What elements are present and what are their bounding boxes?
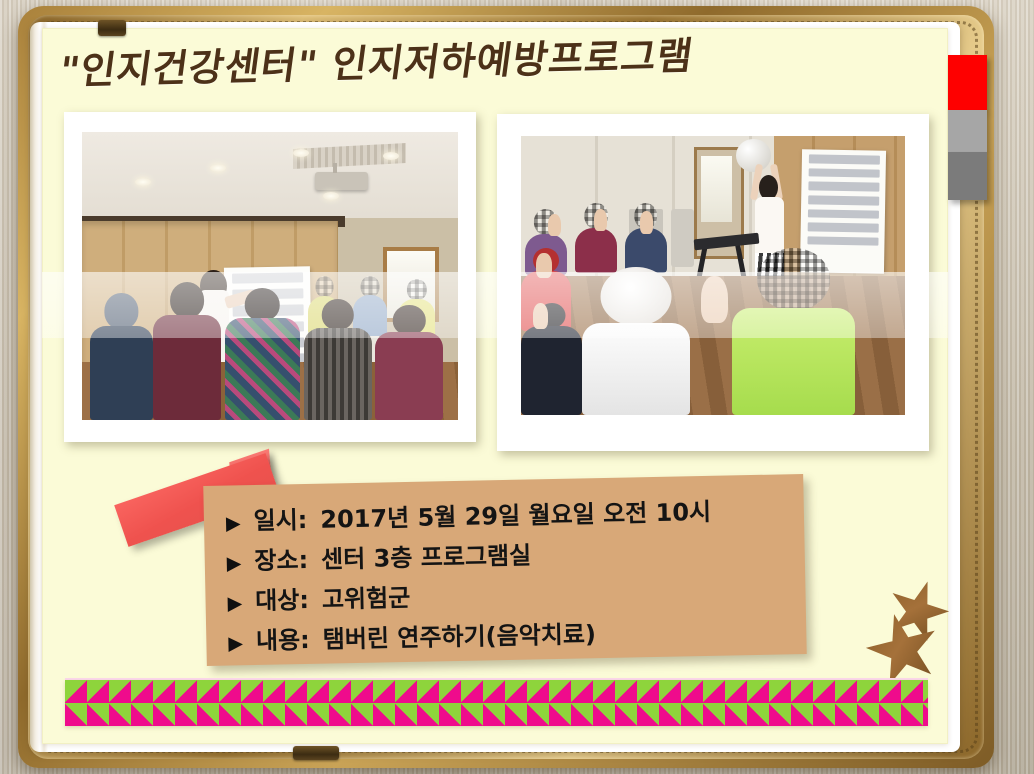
info-value-content: 탬버린 연주하기(음악치료) [323, 622, 597, 651]
info-line-datetime: ▶ 일시: 2017년 5월 29일 월요일 오전 10시 [226, 498, 804, 534]
info-value-datetime: 2017년 5월 29일 월요일 오전 10시 [320, 500, 711, 532]
info-line-content: ▶ 내용: 탬버린 연주하기(음악치료) [228, 618, 806, 654]
bullet-icon: ▶ [227, 554, 242, 573]
info-line-target: ▶ 대상: 고위험군 [227, 578, 805, 614]
side-tab-light-gray[interactable] [948, 110, 987, 152]
info-label-content: 내용: [256, 628, 310, 653]
info-box: ▶ 일시: 2017년 5월 29일 월요일 오전 10시 ▶ 장소: 센터 3… [203, 474, 806, 666]
notebook-clasp-top [98, 20, 126, 36]
side-tab-dark-gray[interactable] [948, 152, 987, 200]
info-value-target: 고위험군 [322, 586, 411, 612]
notebook-clasp-bottom [293, 746, 339, 760]
side-tab-red[interactable] [948, 55, 987, 111]
photo-card-2[interactable] [497, 114, 929, 451]
photo-1-image [82, 132, 458, 420]
bullet-icon: ▶ [228, 634, 243, 653]
info-label-target: 대상: [255, 588, 309, 613]
info-label-location: 장소: [254, 548, 308, 573]
photo-2-image [521, 136, 905, 415]
slide-canvas: "인지건강센터" 인지저하예방프로그램 [0, 0, 1034, 774]
bullet-icon: ▶ [226, 514, 241, 533]
info-label-datetime: 일시: [253, 508, 307, 533]
info-line-location: ▶ 장소: 센터 3층 프로그램실 [227, 538, 805, 574]
info-value-location: 센터 3층 프로그램실 [321, 543, 532, 571]
bullet-icon: ▶ [227, 594, 242, 613]
photo-card-1[interactable] [64, 112, 476, 442]
triangle-border-strip [65, 680, 928, 726]
